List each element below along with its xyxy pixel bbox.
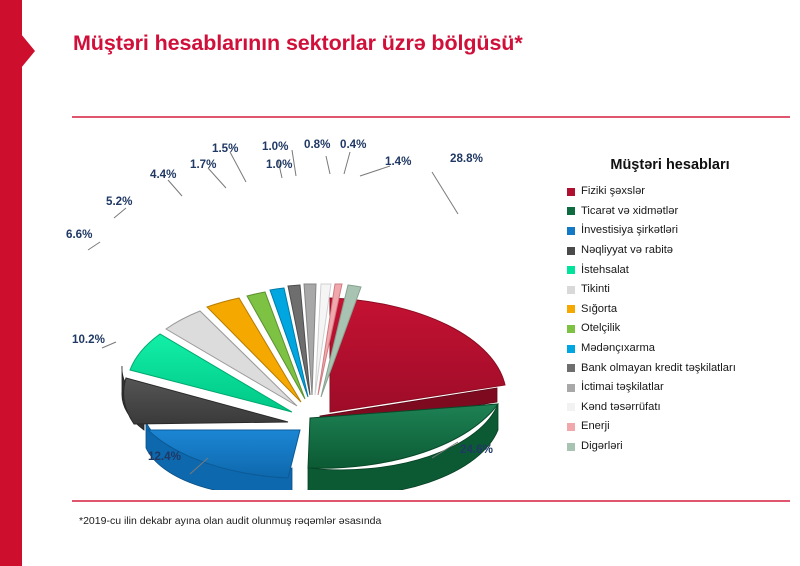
legend-item-bank-olmayan-kredit[interactable]: Bank olmayan kredit təşkilatları: [565, 358, 797, 378]
pie-label-tikinti: 5.2%: [106, 195, 132, 208]
page-title: Müştəri hesablarının sektorlar üzrə bölg…: [73, 31, 523, 56]
brand-accent-bar: [0, 0, 22, 566]
pie-label-sigorta: 4.4%: [150, 168, 176, 181]
legend-item-medencixarma[interactable]: Mədənçıxarma: [565, 339, 797, 359]
legend-label: Sığorta: [581, 304, 617, 315]
pie-slice-ictimai-teskilatlar: [304, 284, 316, 395]
legend-item-ticaret-ve-xidmetler[interactable]: Ticarət və xidmətlər: [565, 202, 797, 222]
pie-label-ictimai-teskilatlar: 1.0%: [266, 158, 292, 171]
legend-swatch-icon: [567, 364, 575, 372]
pie-chart-svg: [60, 130, 560, 490]
chart-legend: Müştəri hesabları Fiziki şəxslər Ticarət…: [565, 157, 797, 456]
legend-item-enerji[interactable]: Enerji: [565, 417, 797, 437]
pie-label-ticaret-ve-xidmetler: 24.6%: [460, 443, 493, 456]
legend-swatch-icon: [567, 188, 575, 196]
pie-label-digerleri: 1.4%: [385, 155, 411, 168]
legend-item-sigorta[interactable]: Sığorta: [565, 300, 797, 320]
legend-item-digerleri[interactable]: Digərləri: [565, 437, 797, 457]
legend-swatch-icon: [567, 325, 575, 333]
legend-label: Enerji: [581, 421, 610, 432]
legend-label: Fiziki şəxslər: [581, 186, 645, 197]
legend-label: Nəqliyyat və rabitə: [581, 245, 673, 256]
legend-label: Ticarət və xidmətlər: [581, 206, 678, 217]
chevron-right-icon: [21, 34, 35, 68]
pie-label-otelcilik: 1.7%: [190, 158, 216, 171]
footnote: *2019-cu ilin dekabr ayına olan audit ol…: [79, 515, 381, 527]
legend-swatch-icon: [567, 286, 575, 294]
legend-label: Kənd təsərrüfatı: [581, 402, 661, 413]
legend-swatch-icon: [567, 403, 575, 411]
legend-item-otelcilik[interactable]: Otelçilik: [565, 319, 797, 339]
legend-label: İstehsalat: [581, 265, 629, 276]
legend-swatch-icon: [567, 207, 575, 215]
pie-label-medencixarma: 1.5%: [212, 142, 238, 155]
pie-label-enerji: 0.4%: [340, 138, 366, 151]
pie-label-investisiya-sirketleri: 12.4%: [148, 450, 181, 463]
legend-title: Müştəri hesabları: [565, 157, 797, 173]
legend-label: Bank olmayan kredit təşkilatları: [581, 363, 736, 374]
legend-swatch-icon: [567, 247, 575, 255]
pie-label-kend-teserrufati: 0.8%: [304, 138, 330, 151]
divider-top: [72, 116, 790, 118]
legend-label: İnvestisiya şirkətləri: [581, 225, 678, 236]
legend-label: Mədənçıxarma: [581, 343, 655, 354]
legend-swatch-icon: [567, 384, 575, 392]
pie-chart: 28.8% 24.6% 12.4% 10.2% 6.6% 5.2% 4.4% 1…: [60, 130, 560, 490]
pie-label-neqliyyat-ve-rabite: 10.2%: [72, 333, 105, 346]
legend-label: Otelçilik: [581, 323, 620, 334]
pie-label-bank-olmayan-kredit: 1.0%: [262, 140, 288, 153]
legend-label: Tikinti: [581, 284, 610, 295]
legend-swatch-icon: [567, 227, 575, 235]
legend-swatch-icon: [567, 305, 575, 313]
legend-item-istehsalat[interactable]: İstehsalat: [565, 260, 797, 280]
legend-item-kend-teserrufati[interactable]: Kənd təsərrüfatı: [565, 398, 797, 418]
legend-label: Digərləri: [581, 441, 623, 452]
legend-swatch-icon: [567, 423, 575, 431]
legend-swatch-icon: [567, 266, 575, 274]
legend-swatch-icon: [567, 443, 575, 451]
legend-item-ictimai-teskilatlar[interactable]: İctimai təşkilatlar: [565, 378, 797, 398]
legend-swatch-icon: [567, 345, 575, 353]
divider-bottom: [72, 500, 790, 502]
legend-item-tikinti[interactable]: Tikinti: [565, 280, 797, 300]
legend-item-investisiya-sirketleri[interactable]: İnvestisiya şirkətləri: [565, 221, 797, 241]
legend-item-neqliyyat-ve-rabite[interactable]: Nəqliyyat və rabitə: [565, 241, 797, 261]
slide-canvas: Müştəri hesablarının sektorlar üzrə bölg…: [0, 0, 800, 566]
legend-label: İctimai təşkilatlar: [581, 382, 664, 393]
pie-label-istehsalat: 6.6%: [66, 228, 92, 241]
pie-label-fiziki-sexsler: 28.8%: [450, 152, 483, 165]
legend-item-fiziki-sexsler[interactable]: Fiziki şəxslər: [565, 182, 797, 202]
